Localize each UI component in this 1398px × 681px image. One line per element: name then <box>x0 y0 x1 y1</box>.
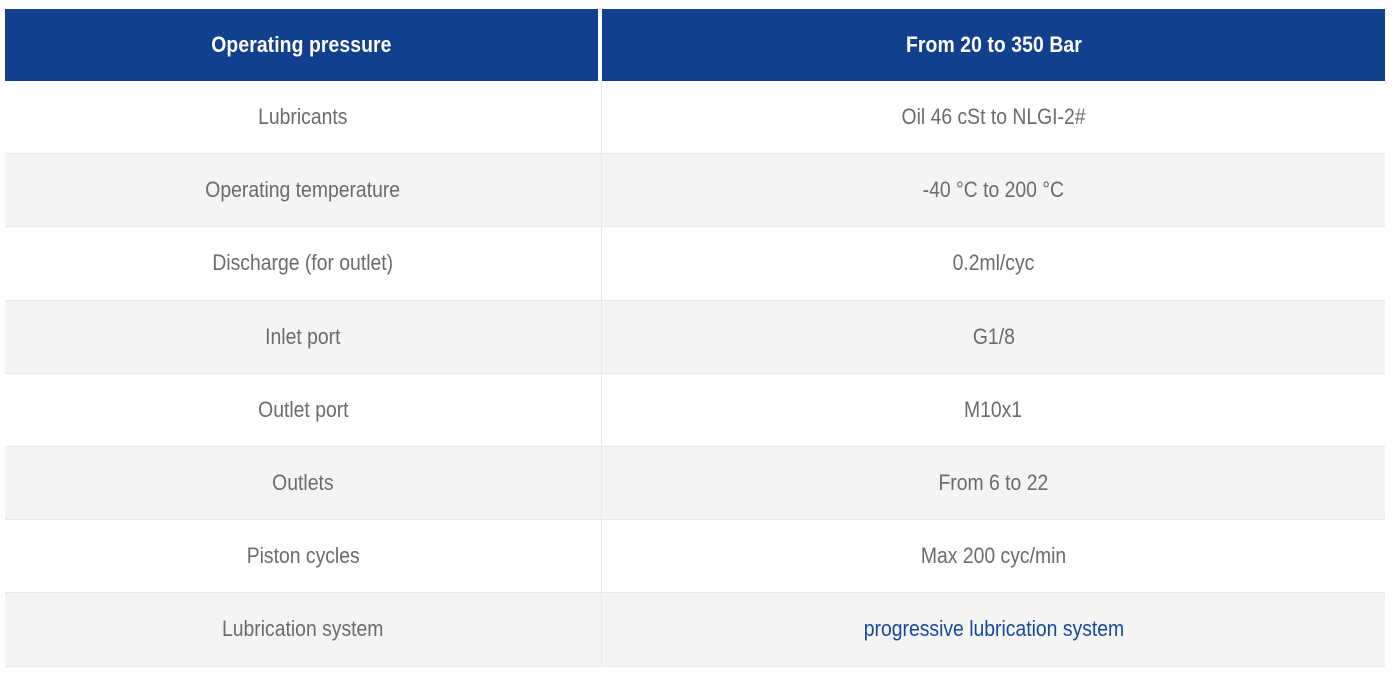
row-label-text: Operating temperature <box>206 177 401 203</box>
row-label-cell: Outlet port <box>5 374 602 447</box>
row-label-cell: Inlet port <box>5 301 602 374</box>
row-value-cell[interactable]: progressive lubrication system <box>602 593 1385 666</box>
row-label-cell: Discharge (for outlet) <box>5 227 602 300</box>
row-value-text: -40 °C to 200 °C <box>923 177 1064 203</box>
header-cell-label-column: Operating pressure <box>5 9 602 81</box>
table-row: Piston cyclesMax 200 cyc/min <box>5 520 1385 593</box>
table-header: Operating pressure From 20 to 350 Bar <box>5 9 1385 81</box>
row-value-text: G1/8 <box>973 324 1015 350</box>
row-value-cell: 0.2ml/cyc <box>602 227 1385 300</box>
row-label-cell: Outlets <box>5 447 602 520</box>
row-label-text: Outlet port <box>258 397 348 423</box>
table-row: Lubrication systemprogressive lubricatio… <box>5 593 1385 666</box>
row-label-text: Lubrication system <box>222 616 383 642</box>
table-row: Operating temperature-40 °C to 200 °C <box>5 154 1385 227</box>
row-label-text: Outlets <box>272 470 333 496</box>
header-cell-value-column: From 20 to 350 Bar <box>602 9 1385 81</box>
row-label-cell: Lubrication system <box>5 593 602 666</box>
header-label-text: Operating pressure <box>211 32 391 58</box>
table-row: LubricantsOil 46 cSt to NLGI-2# <box>5 81 1385 154</box>
row-value-cell: M10x1 <box>602 374 1385 447</box>
row-label-text: Discharge (for outlet) <box>213 250 394 276</box>
row-value-cell: G1/8 <box>602 301 1385 374</box>
row-label-cell: Piston cycles <box>5 520 602 593</box>
header-row: Operating pressure From 20 to 350 Bar <box>5 9 1385 81</box>
row-label-text: Piston cycles <box>247 543 360 569</box>
header-value-text: From 20 to 350 Bar <box>906 32 1082 58</box>
row-value-cell: -40 °C to 200 °C <box>602 154 1385 227</box>
table-body: LubricantsOil 46 cSt to NLGI-2#Operating… <box>5 81 1385 667</box>
row-value-cell: From 6 to 22 <box>602 447 1385 520</box>
row-value-cell: Max 200 cyc/min <box>602 520 1385 593</box>
row-label-text: Lubricants <box>258 104 347 130</box>
specification-table: Operating pressure From 20 to 350 Bar Lu… <box>5 9 1385 667</box>
row-value-link[interactable]: progressive lubrication system <box>863 616 1123 642</box>
table-row: OutletsFrom 6 to 22 <box>5 447 1385 520</box>
row-value-text: 0.2ml/cyc <box>953 250 1035 276</box>
table-row: Outlet portM10x1 <box>5 374 1385 447</box>
row-value-text: From 6 to 22 <box>939 470 1049 496</box>
row-label-text: Inlet port <box>265 324 340 350</box>
table-row: Discharge (for outlet)0.2ml/cyc <box>5 227 1385 300</box>
row-value-text: Oil 46 cSt to NLGI-2# <box>901 104 1085 130</box>
row-label-cell: Operating temperature <box>5 154 602 227</box>
row-value-text: M10x1 <box>964 397 1022 423</box>
row-value-cell: Oil 46 cSt to NLGI-2# <box>602 81 1385 154</box>
row-label-cell: Lubricants <box>5 81 602 154</box>
row-value-text: Max 200 cyc/min <box>921 543 1066 569</box>
specification-table-page: Operating pressure From 20 to 350 Bar Lu… <box>0 0 1398 681</box>
table-row: Inlet portG1/8 <box>5 301 1385 374</box>
